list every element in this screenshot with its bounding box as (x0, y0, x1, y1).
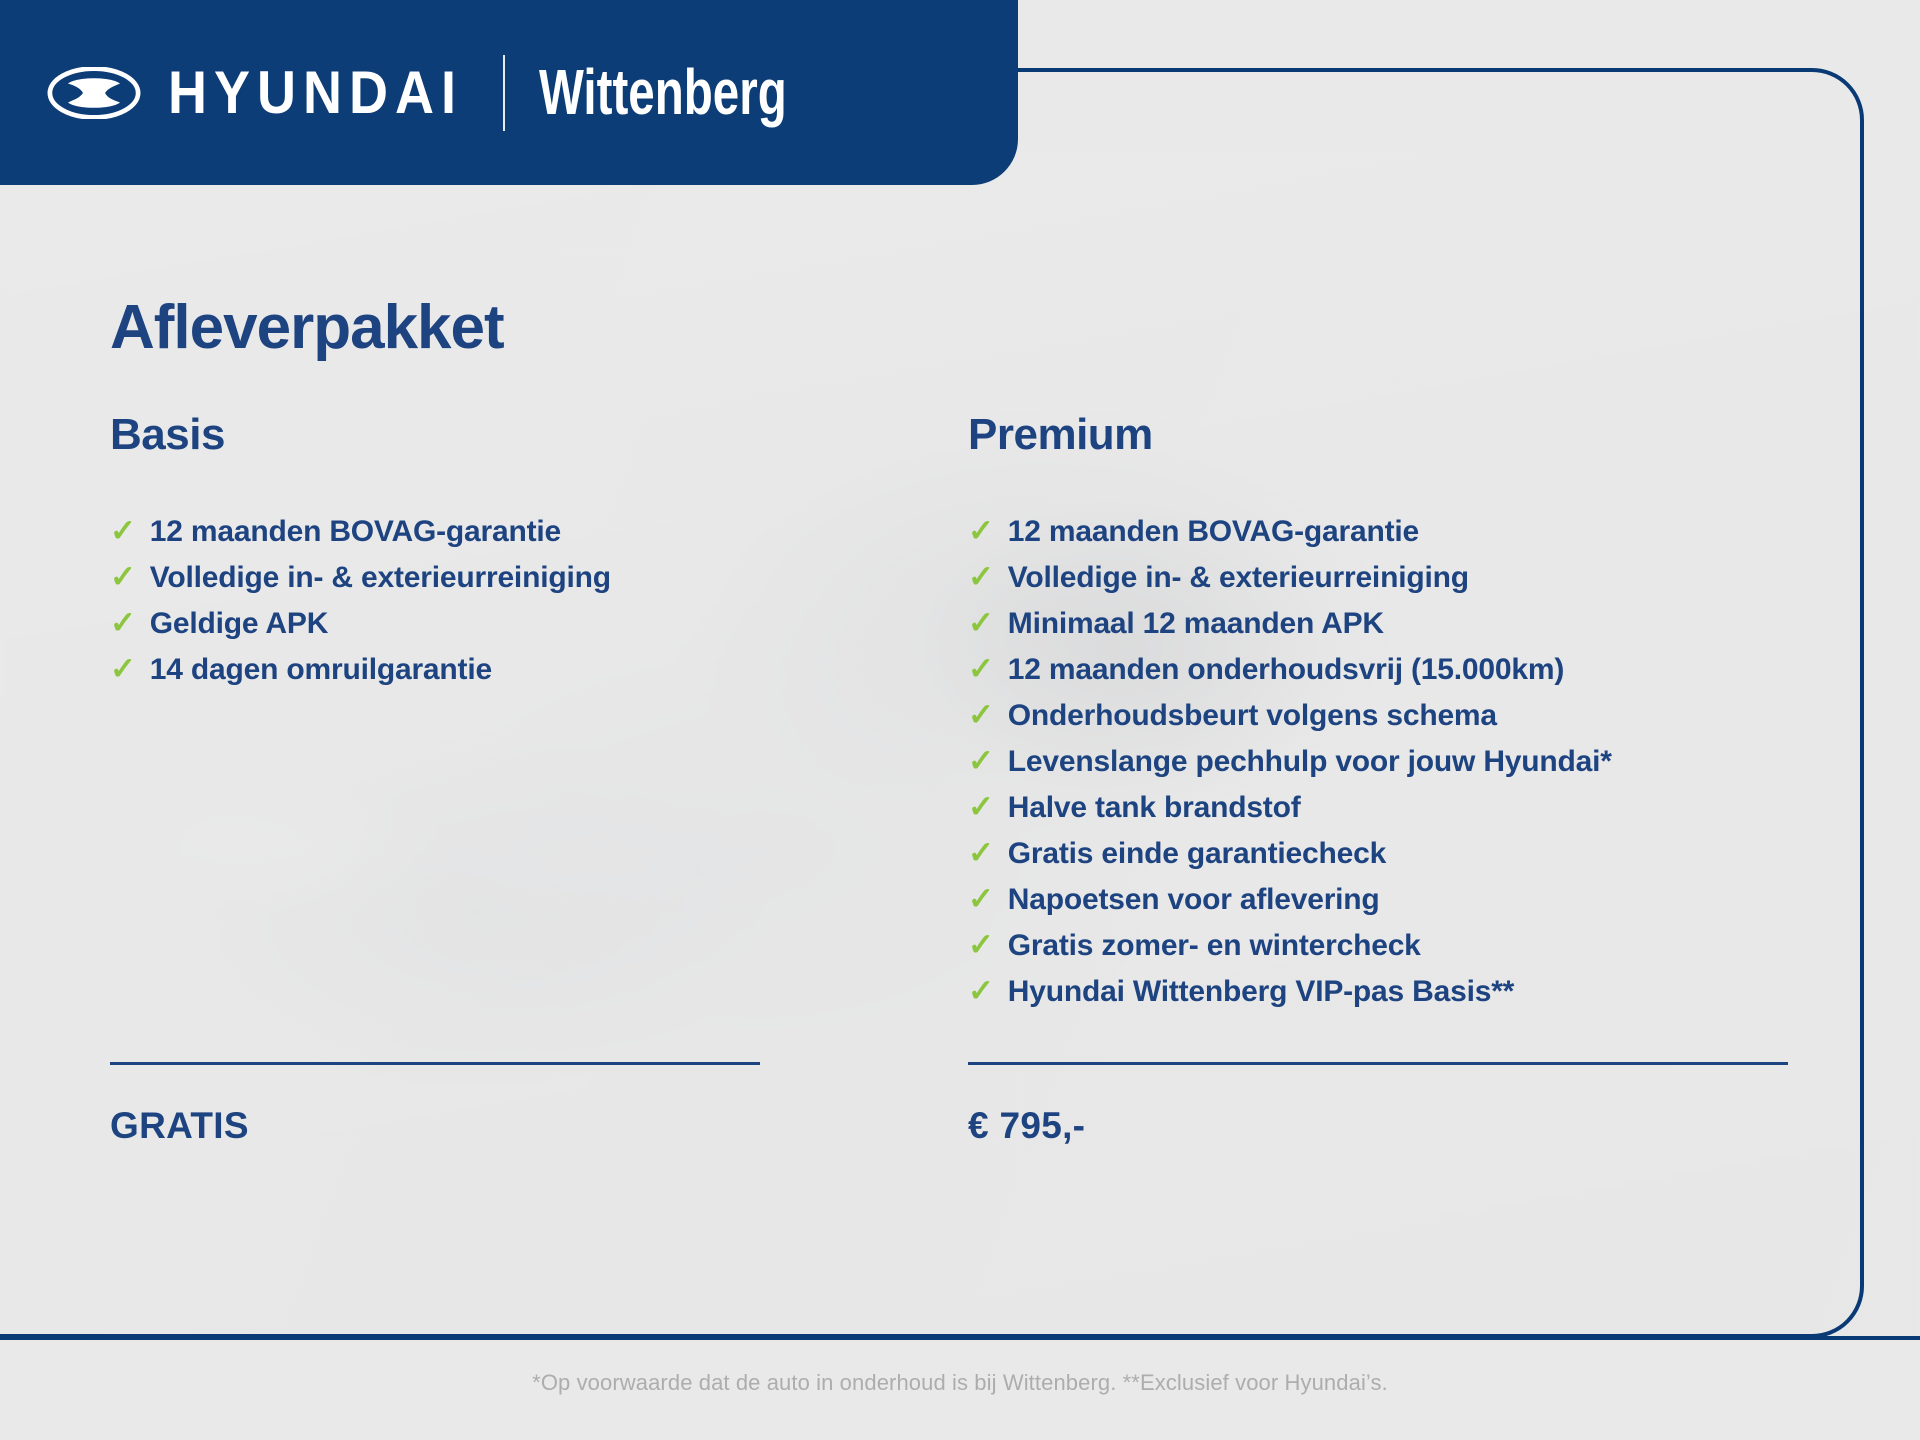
check-mark-icon: ✓ (110, 646, 136, 691)
feature-label: Volledige in- & exterieurreiniging (1008, 555, 1469, 600)
check-mark-icon: ✓ (968, 646, 994, 691)
list-item: ✓ Hyundai Wittenberg VIP-pas Basis** (968, 968, 1818, 1014)
feature-label: Gratis einde garantiecheck (1008, 831, 1386, 876)
price-block-basis: GRATIS (110, 1062, 760, 1147)
check-mark-icon: ✓ (968, 968, 994, 1013)
feature-label: Volledige in- & exterieurreiniging (150, 555, 611, 600)
feature-label: Geldige APK (150, 601, 328, 646)
list-item: ✓ Onderhoudsbeurt volgens schema (968, 692, 1818, 738)
feature-label: Hyundai Wittenberg VIP-pas Basis** (1008, 969, 1514, 1014)
feature-label: Gratis zomer- en wintercheck (1008, 923, 1421, 968)
list-item: ✓ Gratis zomer- en wintercheck (968, 922, 1818, 968)
feature-label: Minimaal 12 maanden APK (1008, 601, 1384, 646)
check-mark-icon: ✓ (968, 876, 994, 921)
check-mark-icon: ✓ (968, 784, 994, 829)
list-item: ✓ Volledige in- & exterieurreiniging (110, 554, 750, 600)
list-item: ✓ Levenslange pechhulp voor jouw Hyundai… (968, 738, 1818, 784)
hyundai-wordmark: HYUNDAI (168, 58, 463, 127)
check-mark-icon: ✓ (968, 508, 994, 553)
check-mark-icon: ✓ (968, 600, 994, 645)
feature-label: 12 maanden BOVAG-garantie (150, 509, 561, 554)
feature-label: Onderhoudsbeurt volgens schema (1008, 693, 1497, 738)
feature-label: Napoetsen voor aflevering (1008, 877, 1380, 922)
footer-divider (0, 1336, 1920, 1340)
list-item: ✓ 12 maanden BOVAG-garantie (968, 508, 1818, 554)
feature-list-basis: ✓ 12 maanden BOVAG-garantie ✓ Volledige … (110, 508, 750, 692)
feature-label: 12 maanden onderhoudsvrij (15.000km) (1008, 647, 1564, 692)
price-divider (110, 1062, 760, 1065)
price-value-basis: GRATIS (110, 1105, 760, 1147)
package-title-basis: Basis (110, 410, 750, 460)
dealer-name: Wittenberg (539, 56, 787, 129)
feature-list-premium: ✓ 12 maanden BOVAG-garantie ✓ Volledige … (968, 508, 1818, 1014)
check-mark-icon: ✓ (110, 508, 136, 553)
brand-header-banner: HYUNDAI Wittenberg (0, 0, 1018, 185)
list-item: ✓ Minimaal 12 maanden APK (968, 600, 1818, 646)
list-item: ✓ 14 dagen omruilgarantie (110, 646, 750, 692)
content-area: Afleverpakket Basis ✓ 12 maanden BOVAG-g… (0, 0, 1920, 1440)
list-item: ✓ 12 maanden BOVAG-garantie (110, 508, 750, 554)
page-title: Afleverpakket (110, 292, 504, 363)
check-mark-icon: ✓ (968, 738, 994, 783)
price-divider (968, 1062, 1788, 1065)
check-mark-icon: ✓ (968, 830, 994, 875)
footnote-text: *Op voorwaarde dat de auto in onderhoud … (0, 1370, 1920, 1396)
list-item: ✓ Gratis einde garantiecheck (968, 830, 1818, 876)
check-mark-icon: ✓ (968, 554, 994, 599)
feature-label: Halve tank brandstof (1008, 785, 1301, 830)
header-separator (503, 55, 505, 131)
list-item: ✓ 12 maanden onderhoudsvrij (15.000km) (968, 646, 1818, 692)
check-mark-icon: ✓ (968, 922, 994, 967)
package-title-premium: Premium (968, 410, 1818, 460)
check-mark-icon: ✓ (110, 554, 136, 599)
feature-label: 12 maanden BOVAG-garantie (1008, 509, 1419, 554)
check-mark-icon: ✓ (110, 600, 136, 645)
list-item: ✓ Geldige APK (110, 600, 750, 646)
price-value-premium: € 795,- (968, 1105, 1788, 1147)
list-item: ✓ Napoetsen voor aflevering (968, 876, 1818, 922)
list-item: ✓ Volledige in- & exterieurreiniging (968, 554, 1818, 600)
package-column-basis: Basis ✓ 12 maanden BOVAG-garantie ✓ Voll… (110, 410, 750, 692)
list-item: ✓ Halve tank brandstof (968, 784, 1818, 830)
hyundai-logo-icon (46, 67, 142, 119)
feature-label: 14 dagen omruilgarantie (150, 647, 492, 692)
check-mark-icon: ✓ (968, 692, 994, 737)
package-column-premium: Premium ✓ 12 maanden BOVAG-garantie ✓ Vo… (968, 410, 1818, 1014)
price-block-premium: € 795,- (968, 1062, 1788, 1147)
feature-label: Levenslange pechhulp voor jouw Hyundai* (1008, 739, 1612, 784)
